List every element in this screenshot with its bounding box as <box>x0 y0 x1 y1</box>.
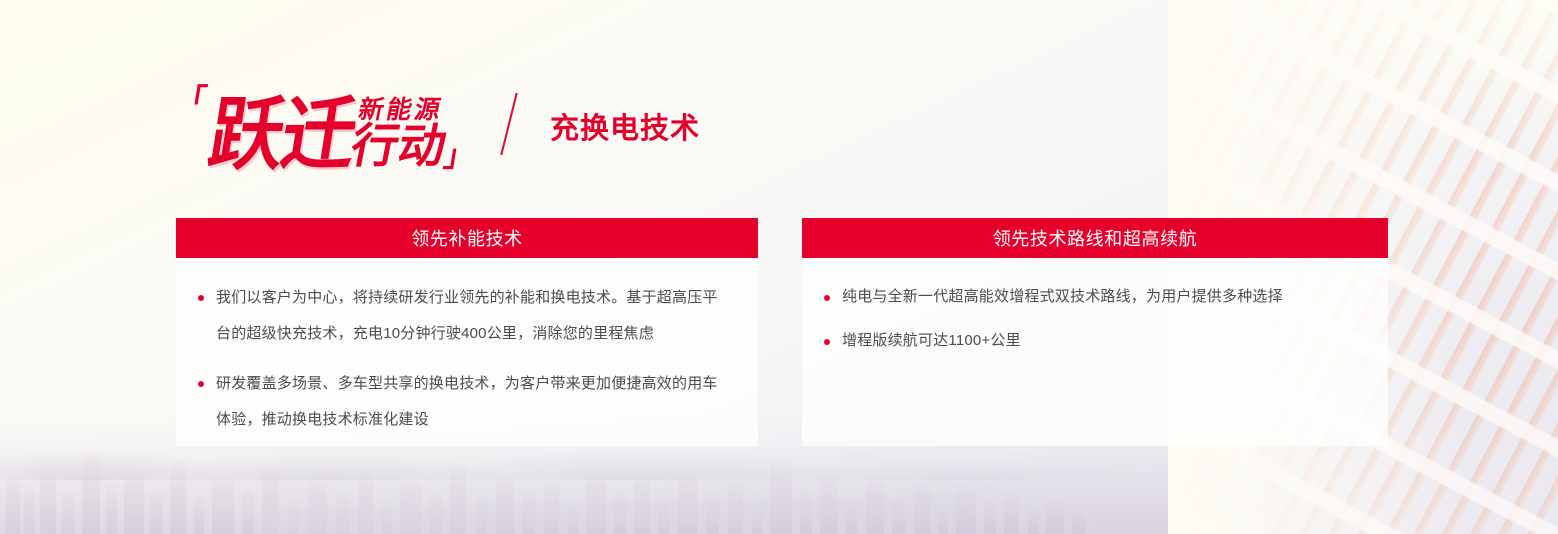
info-card-leading-recharge: 领先补能技术 我们以客户为中心，将持续研发行业领先的补能和换电技术。基于超高压平… <box>176 218 758 446</box>
card-title: 领先补能技术 <box>411 225 523 251</box>
bullet-list: 纯电与全新一代超高能效增程式双技术路线，为用户提供多种选择 增程版续航可达110… <box>820 280 1360 358</box>
wordmark-main-text: 跃迁 <box>204 97 360 174</box>
slash-divider-icon <box>500 93 517 155</box>
bullet-dot-icon <box>824 295 830 301</box>
card-body: 我们以客户为中心，将持续研发行业领先的补能和换电技术。基于超高压平台的超级快充技… <box>176 258 758 446</box>
list-item-text: 我们以客户为中心，将持续研发行业领先的补能和换电技术。基于超高压平台的超级快充技… <box>216 289 718 342</box>
river-decoration <box>260 495 960 534</box>
list-item: 纯电与全新一代超高能效增程式双技术路线，为用户提供多种选择 <box>820 280 1360 314</box>
bullet-dot-icon <box>198 295 204 301</box>
list-item-text: 增程版续航可达1100+公里 <box>842 332 1021 349</box>
card-title: 领先技术路线和超高续航 <box>993 225 1198 251</box>
card-header: 领先技术路线和超高续航 <box>802 218 1388 258</box>
banner-subtitle: 充换电技术 <box>550 105 700 147</box>
wordmark-secondary-stack: 新能源 行动 <box>347 97 456 172</box>
promo-banner: 「 跃迁 新能源 行动 」 充换电技术 领先补能技术 我们以客户为中心，将持续研… <box>0 0 1558 534</box>
info-card-tech-route-range: 领先技术路线和超高续航 纯电与全新一代超高能效增程式双技术路线，为用户提供多种选… <box>802 218 1388 446</box>
list-item: 我们以客户为中心，将持续研发行业领先的补能和换电技术。基于超高压平台的超级快充技… <box>194 280 730 352</box>
bullet-dot-icon <box>824 339 830 345</box>
list-item: 增程版续航可达1100+公里 <box>820 324 1360 358</box>
card-body: 纯电与全新一代超高能效增程式双技术路线，为用户提供多种选择 增程版续航可达110… <box>802 258 1388 446</box>
bracket-open-glyph: 「 <box>174 86 209 116</box>
bullet-dot-icon <box>198 381 204 387</box>
list-item-text: 纯电与全新一代超高能效增程式双技术路线，为用户提供多种选择 <box>842 288 1283 305</box>
bullet-list: 我们以客户为中心，将持续研发行业领先的补能和换电技术。基于超高压平台的超级快充技… <box>194 280 730 438</box>
bracket-close-glyph: 」 <box>442 142 477 172</box>
list-item: 研发覆盖多场景、多车型共享的换电技术，为客户带来更加便捷高效的用车体验，推动换电… <box>194 366 730 438</box>
card-header: 领先补能技术 <box>176 218 758 258</box>
brand-wordmark: 「 跃迁 新能源 行动 」 <box>176 74 474 174</box>
wordmark-small-bottom-text: 行动 <box>347 122 451 172</box>
list-item-text: 研发覆盖多场景、多车型共享的换电技术，为客户带来更加便捷高效的用车体验，推动换电… <box>216 375 718 428</box>
brand-lockup: 「 跃迁 新能源 行动 」 充换电技术 <box>176 72 700 176</box>
